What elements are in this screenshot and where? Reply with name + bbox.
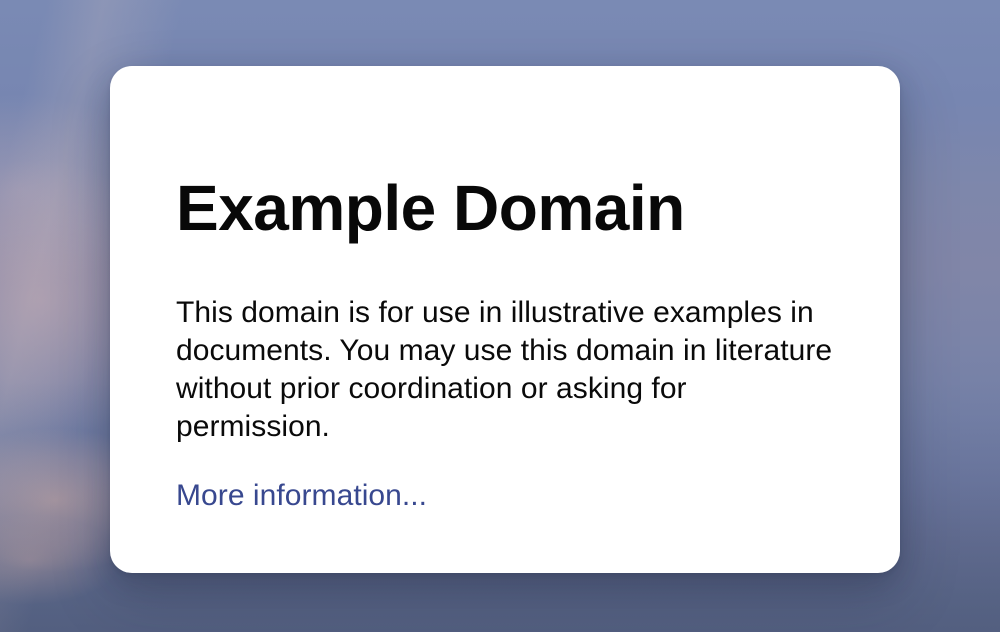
browser-content-card: Example Domain This domain is for use in…: [110, 66, 900, 573]
page-title: Example Domain: [176, 176, 685, 240]
desktop-background: Example Domain This domain is for use in…: [0, 0, 1000, 632]
more-information-link[interactable]: More information...: [176, 477, 427, 515]
page-description-paragraph: This domain is for use in illustrative e…: [176, 294, 836, 446]
